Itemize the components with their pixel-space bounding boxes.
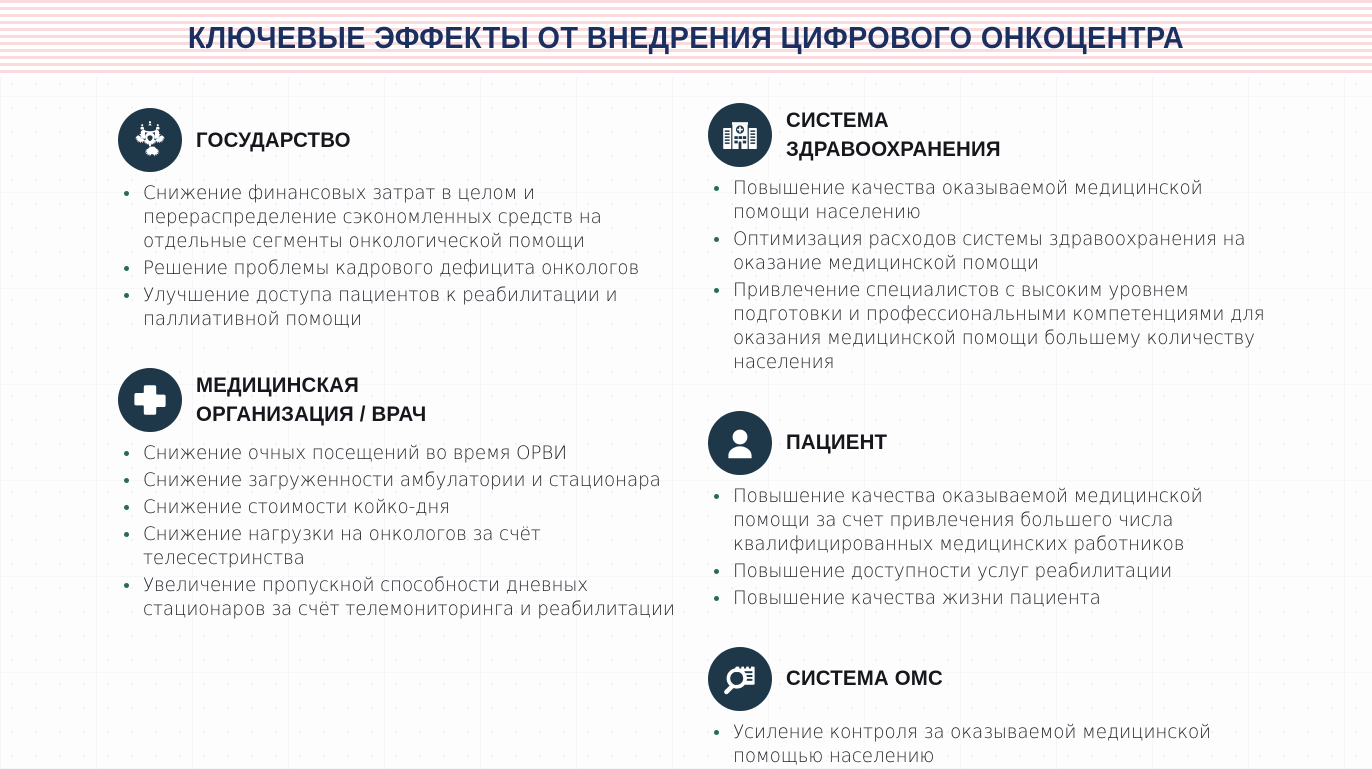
section-sistema-oms: СИСТЕМА ОМС Усиление контроля за оказыва…	[708, 647, 1283, 769]
person-icon	[708, 411, 772, 475]
list-item: Привлечение специалистов с высоким уровн…	[708, 279, 1283, 375]
list-item: Увеличение пропускной способности дневны…	[118, 574, 678, 622]
section-header: СИСТЕМА ОМС	[708, 647, 1283, 711]
slide-root: КЛЮЧЕВЫЕ ЭФФЕКТЫ ОТ ВНЕДРЕНИЯ ЦИФРОВОГО …	[0, 0, 1372, 769]
bullet-list: Снижение финансовых затрат в целом и пер…	[118, 182, 678, 332]
section-sistema-zdravoohraneniya: СИСТЕМА ЗДРАВООХРАНЕНИЯ Повышение качест…	[708, 103, 1283, 375]
list-item: Повышение качества жизни пациента	[708, 587, 1283, 611]
section-title: ПАЦИЕНТ	[786, 428, 887, 457]
bullet-list: Повышение качества оказываемой медицинск…	[708, 485, 1283, 611]
section-title: СИСТЕМА ЗДРАВООХРАНЕНИЯ	[786, 106, 1071, 164]
bullet-list: Повышение качества оказываемой медицинск…	[708, 177, 1283, 375]
list-item: Решение проблемы кадрового дефицита онко…	[118, 257, 678, 281]
list-item: Оптимизация расходов системы здравоохран…	[708, 228, 1283, 276]
bullet-list: Снижение очных посещений во время ОРВИ С…	[118, 442, 678, 622]
content-area: ГОСУДАРСТВО Снижение финансовых затрат в…	[0, 76, 1372, 769]
list-item: Снижение очных посещений во время ОРВИ	[118, 442, 678, 466]
section-title: СИСТЕМА ОМС	[786, 664, 943, 693]
medical-cross-icon	[118, 368, 182, 432]
list-item: Повышение качества оказываемой медицинск…	[708, 485, 1283, 557]
section-title: МЕДИЦИНСКАЯ ОРГАНИЗАЦИЯ / ВРАЧ	[196, 371, 481, 429]
section-pacient: ПАЦИЕНТ Повышение качества оказываемой м…	[708, 411, 1283, 611]
section-medorganizaciya-vrach: МЕДИЦИНСКАЯ ОРГАНИЗАЦИЯ / ВРАЧ Снижение …	[118, 368, 678, 622]
section-header: СИСТЕМА ЗДРАВООХРАНЕНИЯ	[708, 103, 1283, 167]
section-gosudarstvo: ГОСУДАРСТВО Снижение финансовых затрат в…	[118, 108, 678, 332]
list-item: Снижение финансовых затрат в целом и пер…	[118, 182, 678, 254]
list-item: Повышение доступности услуг реабилитации	[708, 560, 1283, 584]
list-item: Повышение качества оказываемой медицинск…	[708, 177, 1283, 225]
list-item: Снижение загруженности амбулатории и ста…	[118, 469, 678, 493]
russian-coat-of-arms-icon	[118, 108, 182, 172]
section-title: ГОСУДАРСТВО	[196, 126, 351, 155]
section-header: ПАЦИЕНТ	[708, 411, 1283, 475]
hospital-building-icon	[708, 103, 772, 167]
list-item: Улучшение доступа пациентов к реабилитац…	[118, 284, 678, 332]
magnifier-document-icon	[708, 647, 772, 711]
right-column: СИСТЕМА ЗДРАВООХРАНЕНИЯ Повышение качест…	[708, 76, 1283, 769]
page-title: КЛЮЧЕВЫЕ ЭФФЕКТЫ ОТ ВНЕДРЕНИЯ ЦИФРОВОГО …	[48, 0, 1324, 76]
list-item: Снижение стоимости койко-дня	[118, 496, 678, 520]
list-item: Снижение нагрузки на онкологов за счёт т…	[118, 523, 678, 571]
bullet-list: Усиление контроля за оказываемой медицин…	[708, 721, 1283, 769]
list-item: Усиление контроля за оказываемой медицин…	[708, 721, 1283, 769]
section-header: МЕДИЦИНСКАЯ ОРГАНИЗАЦИЯ / ВРАЧ	[118, 368, 678, 432]
section-header: ГОСУДАРСТВО	[118, 108, 678, 172]
left-column: ГОСУДАРСТВО Снижение финансовых затрат в…	[118, 76, 678, 625]
